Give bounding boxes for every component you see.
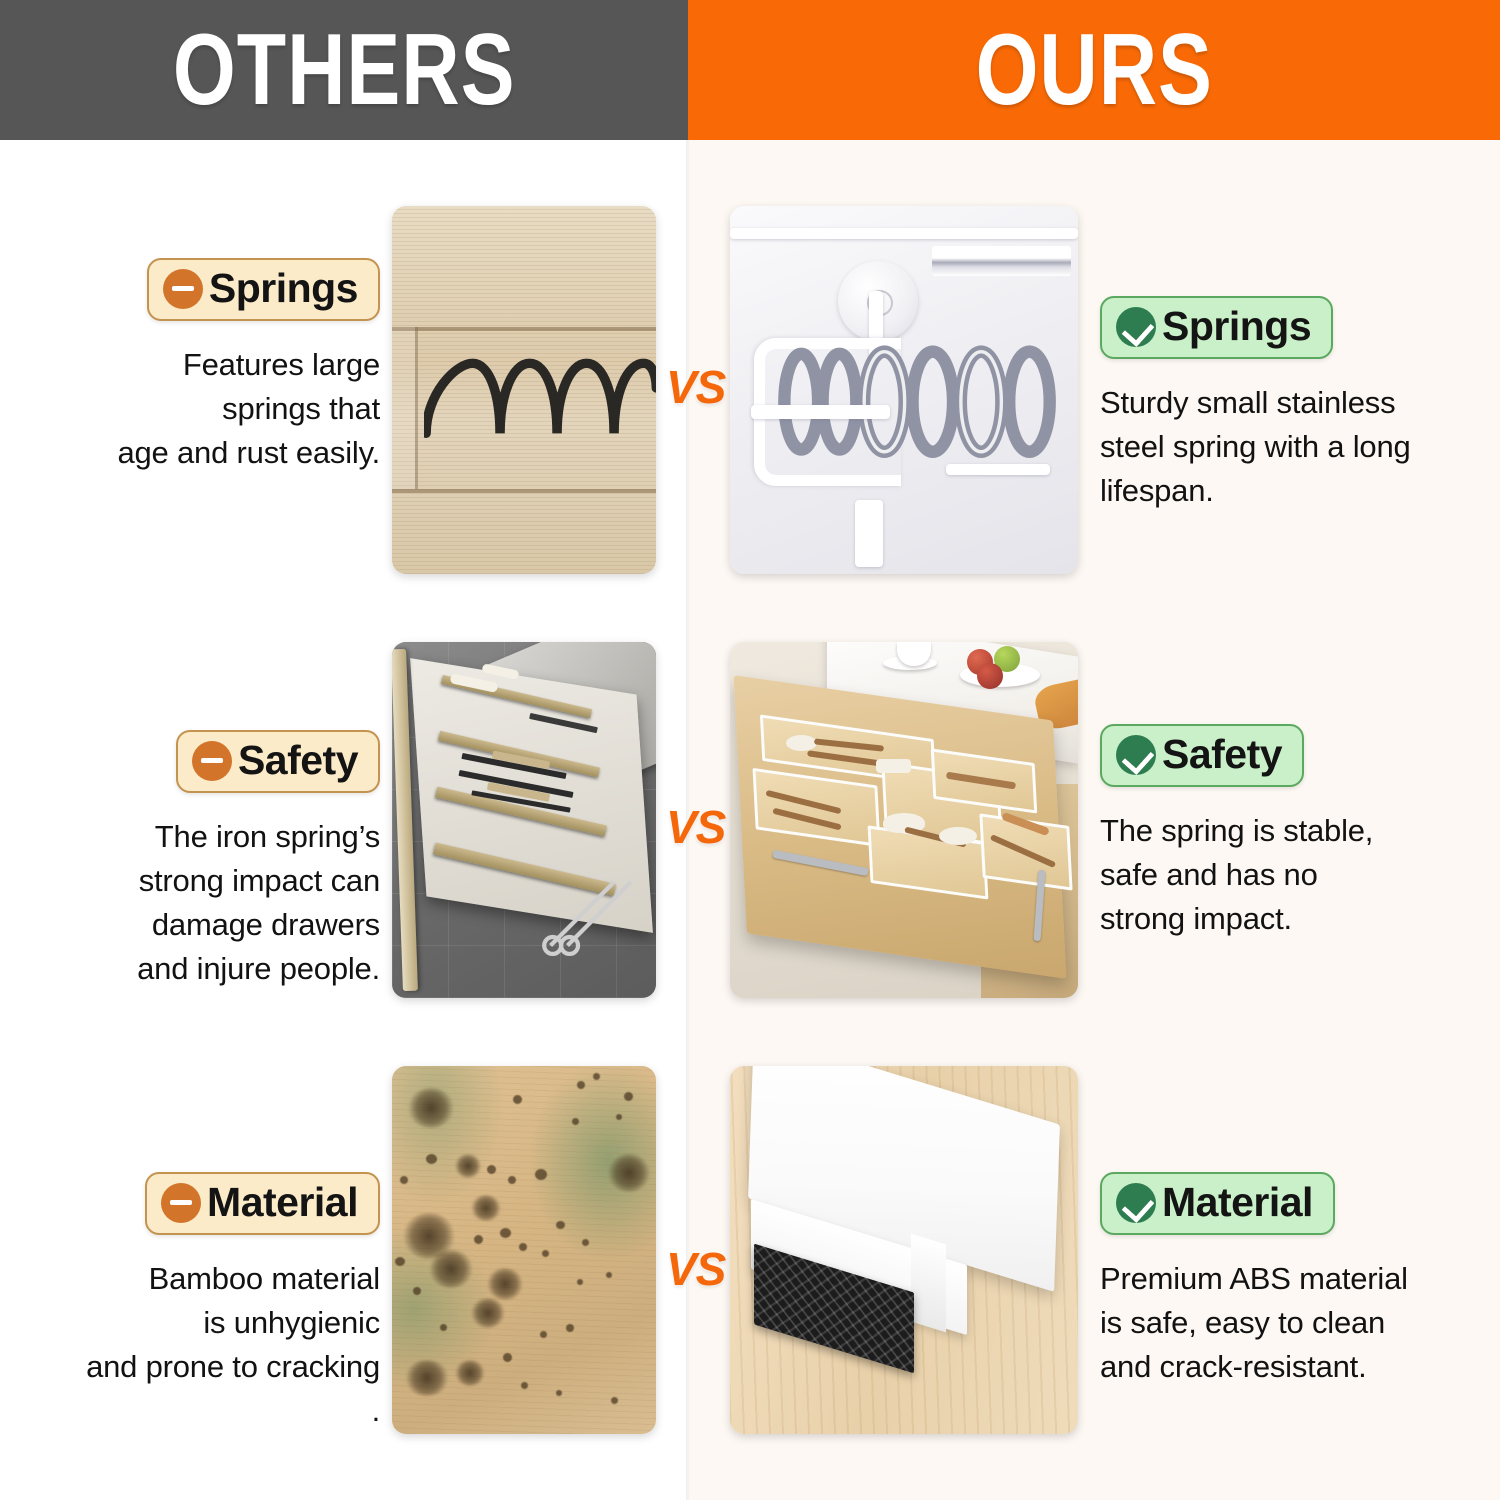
safety-left-text-block: Safety The iron spring’s strong impact c… (40, 730, 380, 991)
vs-marker-material: VS (666, 1246, 725, 1292)
description-line: steel spring with a long (1100, 425, 1480, 469)
safety-positive-badge: Safety (1100, 724, 1304, 787)
description-line: safe and has no (1100, 853, 1480, 897)
minus-circle-icon (161, 1183, 201, 1223)
material-left-text-block: Material Bamboo material is unhygienic a… (40, 1172, 380, 1433)
description-line: Features large (40, 343, 380, 387)
springs-positive-badge: Springs (1100, 296, 1333, 359)
springs-positive-description: Sturdy small stainless steel spring with… (1100, 381, 1480, 513)
vs-marker-springs: VS (666, 364, 725, 410)
springs-negative-badge: Springs (147, 258, 380, 321)
minus-circle-icon (163, 269, 203, 309)
coil-spring-shape (772, 338, 1064, 463)
description-line-trailing-period: . (40, 1389, 380, 1433)
check-circle-icon (1116, 1183, 1156, 1223)
minus-circle-icon (192, 741, 232, 781)
comparison-infographic: OTHERS OURS Springs Features large sprin… (0, 0, 1500, 1500)
header-others-panel: OTHERS (0, 0, 688, 140)
comparison-row-safety: Safety The iron spring’s strong impact c… (0, 620, 1500, 1020)
description-line: Bamboo material (40, 1257, 380, 1301)
description-line: and injure people. (40, 947, 380, 991)
description-line: Premium ABS material (1100, 1257, 1480, 1301)
safety-negative-badge-label: Safety (238, 739, 358, 782)
material-positive-badge-label: Material (1162, 1181, 1313, 1224)
description-line: damage drawers (40, 903, 380, 947)
description-line: and crack-resistant. (1100, 1345, 1480, 1389)
springs-negative-description: Features large springs that age and rust… (40, 343, 380, 475)
zigzag-spring-shape (424, 353, 656, 456)
description-line: Sturdy small stainless (1100, 381, 1480, 425)
description-line: springs that (40, 387, 380, 431)
material-positive-description: Premium ABS material is safe, easy to cl… (1100, 1257, 1480, 1389)
check-circle-icon (1116, 735, 1156, 775)
scissors-shape (540, 848, 646, 969)
vs-marker-safety: VS (666, 804, 725, 850)
springs-left-text-block: Springs Features large springs that age … (40, 258, 380, 475)
comparison-row-material: Material Bamboo material is unhygienic a… (0, 1050, 1500, 1450)
header-bar: OTHERS OURS (0, 0, 1500, 140)
material-negative-description: Bamboo material is unhygienic and prone … (40, 1257, 380, 1433)
messy-kitchen-drawer-knives-tile-floor-photo (392, 642, 656, 998)
organized-wooden-drawer-white-dividers-kitchen-photo (730, 642, 1078, 998)
header-ours-title: OURS (975, 19, 1212, 120)
safety-negative-badge: Safety (176, 730, 380, 793)
springs-right-text-block: Springs Sturdy small stainless steel spr… (1100, 296, 1480, 513)
safety-right-text-block: Safety The spring is stable, safe and ha… (1100, 724, 1480, 941)
description-line: The spring is stable, (1100, 809, 1480, 853)
safety-positive-description: The spring is stable, safe and has no st… (1100, 809, 1480, 941)
description-line: strong impact. (1100, 897, 1480, 941)
material-negative-badge: Material (145, 1172, 380, 1235)
white-plastic-mechanism-stainless-coil-spring-photo (730, 206, 1078, 574)
springs-positive-badge-label: Springs (1162, 305, 1311, 348)
material-right-text-block: Material Premium ABS material is safe, e… (1100, 1172, 1480, 1389)
header-others-title: OTHERS (173, 19, 516, 120)
material-positive-badge: Material (1100, 1172, 1335, 1235)
comparison-row-springs: Springs Features large springs that age … (0, 170, 1500, 590)
material-negative-badge-label: Material (207, 1181, 358, 1224)
description-line: lifespan. (1100, 469, 1480, 513)
springs-negative-badge-label: Springs (209, 267, 358, 310)
description-line: and prone to cracking (40, 1345, 380, 1389)
description-line: The iron spring’s (40, 815, 380, 859)
safety-positive-badge-label: Safety (1162, 733, 1282, 776)
description-line: is unhygienic (40, 1301, 380, 1345)
check-circle-icon (1116, 307, 1156, 347)
bamboo-organizer-large-black-spring-photo (392, 206, 656, 574)
moldy-stained-bamboo-board-photo (392, 1066, 656, 1434)
white-abs-under-desk-drawer-on-wood-photo (730, 1066, 1078, 1434)
safety-negative-description: The iron spring’s strong impact can dama… (40, 815, 380, 991)
description-line: is safe, easy to clean (1100, 1301, 1480, 1345)
description-line: strong impact can (40, 859, 380, 903)
header-ours-panel: OURS (688, 0, 1500, 140)
description-line: age and rust easily. (40, 431, 380, 475)
